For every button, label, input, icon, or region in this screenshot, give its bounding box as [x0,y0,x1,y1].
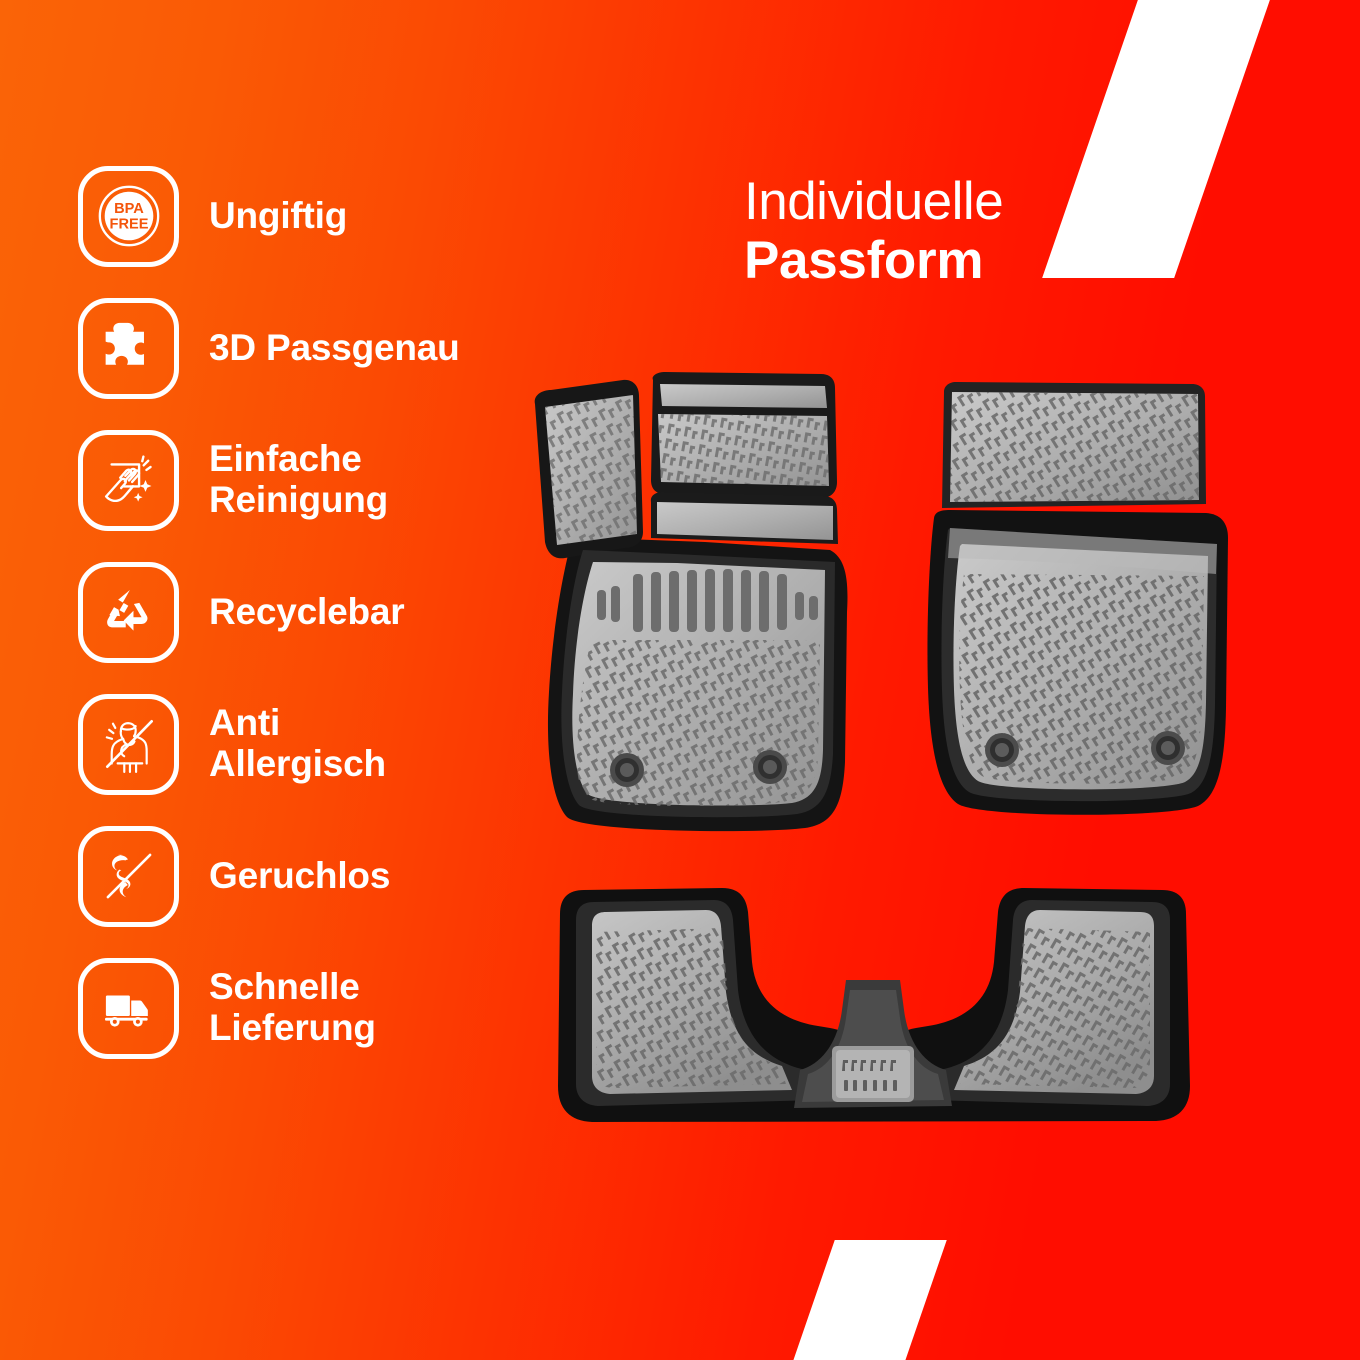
feature-label-einfache-reinigung: Einfache Reinigung [209,439,388,520]
front-left-floor-mat [505,362,885,862]
wiping-hand-icon [78,430,179,531]
feature-item-anti-allergisch: Anti Allergisch [78,678,538,810]
feature-item-schnelle-lieferung: Schnelle Lieferung [78,942,538,1074]
svg-text:FREE: FREE [109,217,148,233]
product-infographic-poster: BPA FREE Ungiftig 3D Passgenau [0,0,1360,1360]
feature-label-3d-passgenau: 3D Passgenau [209,328,460,369]
delivery-truck-icon [78,958,179,1059]
puzzle-piece-icon [78,298,179,399]
headline-block: Individuelle Passform [744,172,1003,291]
rear-bench-floor-mat [500,870,1245,1150]
product-image-stage [495,350,1285,1170]
svg-text:BPA: BPA [114,201,144,217]
headline-line-1: Individuelle [744,172,1003,231]
no-odor-icon [78,826,179,927]
feature-item-3d-passgenau: 3D Passgenau [78,282,538,414]
feature-item-recyclebar: Recyclebar [78,546,538,678]
diagonal-stripe-top-right [1042,0,1274,278]
feature-label-anti-allergisch: Anti Allergisch [209,703,386,784]
diagonal-stripe-bottom [790,1240,947,1360]
feature-label-recyclebar: Recyclebar [209,592,404,633]
feature-item-geruchlos: Geruchlos [78,810,538,942]
no-sneeze-icon [78,694,179,795]
feature-item-einfache-reinigung: Einfache Reinigung [78,414,538,546]
recycle-icon [78,562,179,663]
feature-item-ungiftig: BPA FREE Ungiftig [78,150,538,282]
feature-label-schnelle-lieferung: Schnelle Lieferung [209,967,376,1048]
feature-label-ungiftig: Ungiftig [209,196,347,237]
feature-list: BPA FREE Ungiftig 3D Passgenau [78,150,538,1074]
feature-label-geruchlos: Geruchlos [209,856,390,897]
headline-line-2: Passform [744,231,1003,290]
front-right-floor-mat [920,378,1240,848]
bpa-free-icon: BPA FREE [78,166,179,267]
